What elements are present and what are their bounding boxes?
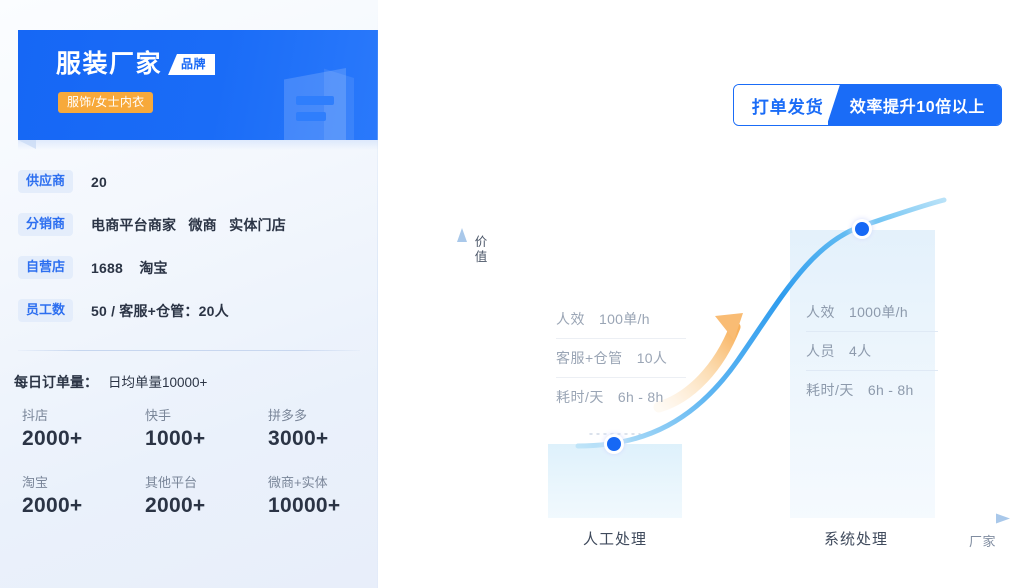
metric-value: 6h - 8h [868, 382, 914, 398]
channel-stats-grid: 抖店 2000+ 快手 1000+ 拼多多 3000+ 淘宝 2000+ 其他平… [22, 408, 362, 520]
ribbon-left-label: 打单发货 [734, 85, 840, 125]
stat-cell: 快手 1000+ [145, 408, 268, 453]
bar-manual [548, 444, 682, 518]
info-key-ownstore: 自营店 [18, 256, 73, 278]
y-axis-label: 价值 [473, 235, 489, 265]
info-value-employees: 50 / 客服+仓管：20人 [91, 301, 229, 321]
info-value-ownstore: 1688 淘宝 [91, 258, 168, 278]
company-title-row: 服装厂家 品牌 [56, 52, 215, 77]
info-key-distributor: 分销商 [18, 213, 73, 235]
metric-row: 人员 4人 [806, 331, 938, 370]
x-axis-arrow [996, 514, 1010, 524]
value-growth-chart: 价值 人工处理 系统处理 厂家 人效 100单/h 客服+仓管 10人 耗时/天… [378, 0, 1024, 588]
section-divider [18, 350, 360, 351]
stat-cell: 其他平台 2000+ [145, 475, 268, 520]
stat-value: 10000+ [268, 492, 362, 520]
metric-value: 1000单/h [849, 302, 908, 322]
stat-name: 快手 [145, 408, 268, 425]
metric-value: 6h - 8h [618, 389, 664, 405]
info-row: 分销商 电商平台商家 微商 实体门店 [0, 203, 378, 246]
stat-value: 1000+ [145, 425, 268, 453]
metric-row: 客服+仓管 10人 [556, 338, 686, 377]
stat-value: 2000+ [145, 492, 268, 520]
metrics-system: 人效 1000单/h 人员 4人 耗时/天 6h - 8h [806, 293, 938, 409]
category-tag: 服饰/女士内衣 [58, 92, 153, 113]
info-row: 自营店 1688 淘宝 [0, 246, 378, 289]
metric-key: 耗时/天 [556, 387, 604, 407]
stat-cell: 淘宝 2000+ [22, 475, 145, 520]
info-key-supplier: 供应商 [18, 170, 73, 192]
card-shadow [18, 140, 378, 150]
chart-panel: 打单发货 效率提升10倍以上 [378, 0, 1024, 588]
page-root: 服装厂家 品牌 服饰/女士内衣 供应商 20 分销商 电商平台商家 微商 实体门… [0, 0, 1024, 588]
stat-value: 2000+ [22, 492, 145, 520]
info-row-list: 供应商 20 分销商 电商平台商家 微商 实体门店 自营店 1688 淘宝 员工… [0, 160, 378, 332]
stat-name: 抖店 [22, 408, 145, 425]
data-point-manual[interactable] [604, 434, 624, 454]
brand-badge: 品牌 [168, 54, 215, 75]
data-point-system[interactable] [852, 219, 872, 239]
company-info-panel: 服装厂家 品牌 服饰/女士内衣 供应商 20 分销商 电商平台商家 微商 实体门… [0, 0, 378, 588]
info-value-distributor: 电商平台商家 微商 实体门店 [91, 215, 286, 235]
info-row: 供应商 20 [0, 160, 378, 203]
metric-value: 100单/h [599, 309, 650, 329]
info-key-employees: 员工数 [18, 299, 73, 321]
stat-name: 淘宝 [22, 475, 145, 492]
metric-key: 耗时/天 [806, 380, 854, 400]
stat-cell: 拼多多 3000+ [268, 408, 362, 453]
metric-key: 人员 [806, 341, 835, 361]
metric-row: 人效 100单/h [556, 300, 686, 338]
company-card: 服装厂家 品牌 服饰/女士内衣 [18, 30, 378, 140]
daily-orders-label: 每日订单量： [14, 372, 98, 392]
daily-orders-value: 日均单量10000+ [108, 371, 207, 391]
document-icon [278, 64, 364, 140]
metric-key: 客服+仓管 [556, 348, 623, 368]
metric-value: 4人 [849, 341, 871, 361]
metric-key: 人效 [806, 302, 835, 322]
stat-name: 微商+实体 [268, 475, 362, 492]
metric-row: 耗时/天 6h - 8h [556, 377, 686, 416]
stat-cell: 抖店 2000+ [22, 408, 145, 453]
daily-orders: 每日订单量： 日均单量10000+ [14, 371, 207, 392]
stat-value: 2000+ [22, 425, 145, 453]
info-value-supplier: 20 [91, 174, 107, 190]
stat-cell: 微商+实体 10000+ [268, 475, 362, 520]
company-name: 服装厂家 [56, 52, 162, 77]
x-axis-end-label: 厂家 [969, 531, 996, 550]
metric-row: 人效 1000单/h [806, 293, 938, 331]
metric-key: 人效 [556, 309, 585, 329]
x-axis-label-system: 系统处理 [824, 528, 888, 549]
stat-name: 其他平台 [145, 475, 268, 492]
metric-row: 耗时/天 6h - 8h [806, 370, 938, 409]
x-axis-label-manual: 人工处理 [583, 528, 647, 549]
stat-value: 3000+ [268, 425, 362, 453]
metrics-manual: 人效 100单/h 客服+仓管 10人 耗时/天 6h - 8h [556, 300, 686, 416]
y-axis-arrow [457, 228, 467, 242]
stat-name: 拼多多 [268, 408, 362, 425]
metric-value: 10人 [637, 348, 667, 368]
info-row: 员工数 50 / 客服+仓管：20人 [0, 289, 378, 332]
